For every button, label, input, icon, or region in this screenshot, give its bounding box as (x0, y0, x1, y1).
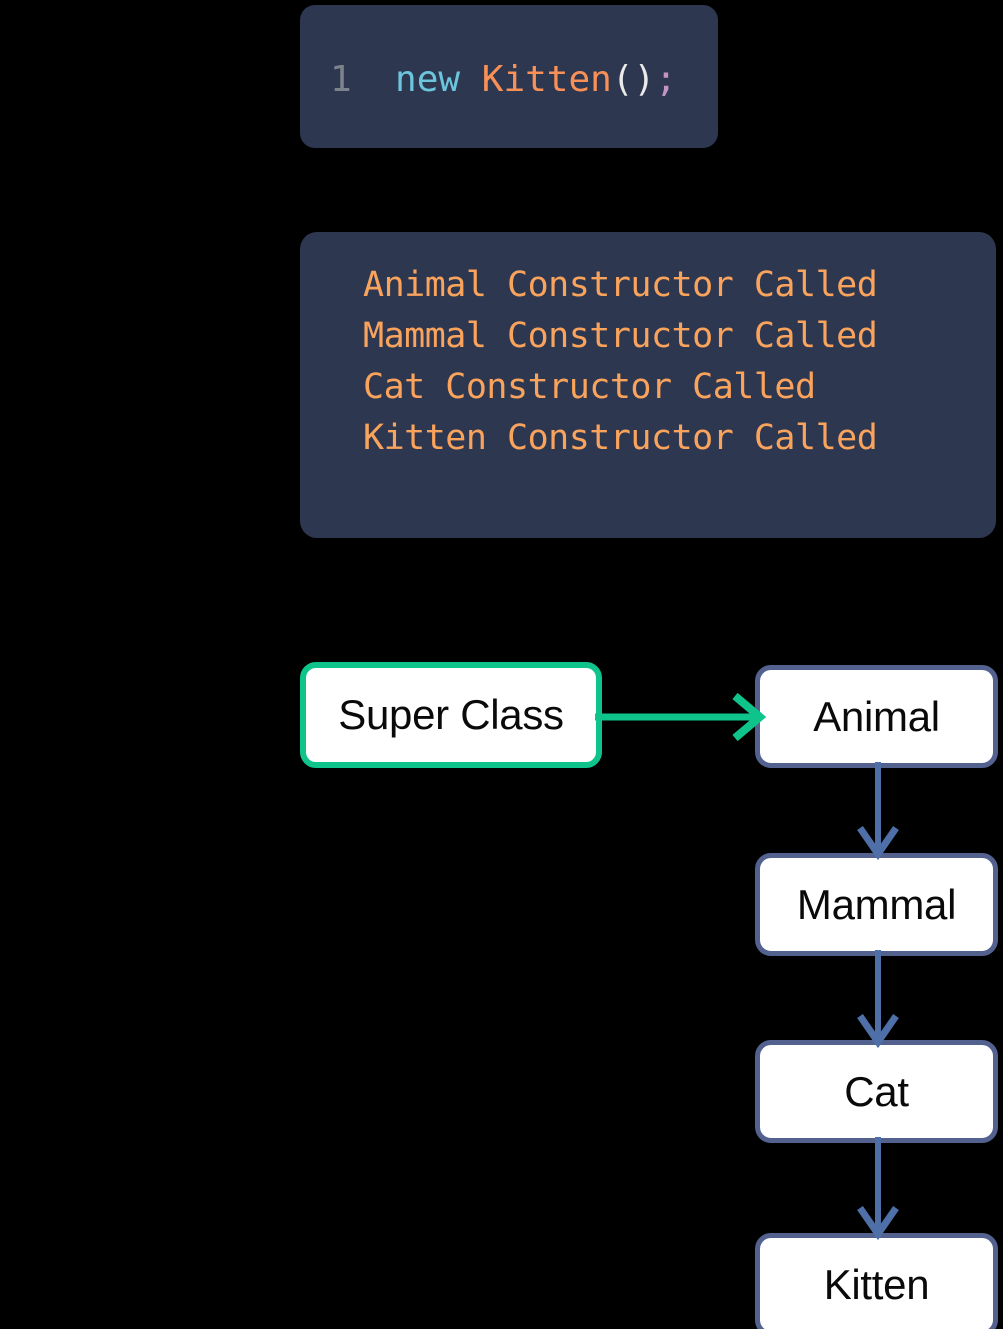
code-line-1: 1 new Kitten(); (330, 58, 677, 102)
code-gap (352, 59, 395, 100)
node-kitten[interactable]: Kitten (755, 1233, 998, 1329)
edge-animal-to-mammal-arrow (840, 762, 916, 860)
node-label: Cat (844, 1068, 908, 1116)
node-animal[interactable]: Animal (755, 665, 998, 768)
code-parentheses: () (612, 59, 655, 100)
code-space (460, 59, 482, 100)
node-label: Kitten (824, 1261, 930, 1309)
code-snippet-panel: 1 new Kitten(); (300, 5, 718, 148)
code-keyword-new: new (395, 59, 460, 100)
edge-mammal-to-cat-arrow (840, 950, 916, 1048)
console-output-panel: Animal Constructor Called Mammal Constru… (300, 232, 996, 538)
console-line: Kitten Constructor Called (363, 413, 986, 464)
console-line: Mammal Constructor Called (363, 311, 986, 362)
node-label: Mammal (797, 881, 956, 929)
code-semicolon: ; (655, 59, 677, 100)
node-label: Super Class (338, 691, 563, 739)
diagram-canvas: 1 new Kitten(); Animal Constructor Calle… (0, 0, 1003, 1329)
node-mammal[interactable]: Mammal (755, 853, 998, 956)
node-cat[interactable]: Cat (755, 1040, 998, 1143)
console-line: Cat Constructor Called (363, 362, 986, 413)
code-line-number: 1 (330, 59, 352, 100)
edge-super-class-to-animal-arrow (595, 686, 770, 748)
console-output-lines: Animal Constructor Called Mammal Constru… (363, 260, 986, 464)
code-class-kitten: Kitten (482, 59, 612, 100)
node-super-class[interactable]: Super Class (300, 662, 602, 768)
console-line: Animal Constructor Called (363, 260, 986, 311)
node-label: Animal (813, 693, 940, 741)
edge-cat-to-kitten-arrow (840, 1137, 916, 1240)
